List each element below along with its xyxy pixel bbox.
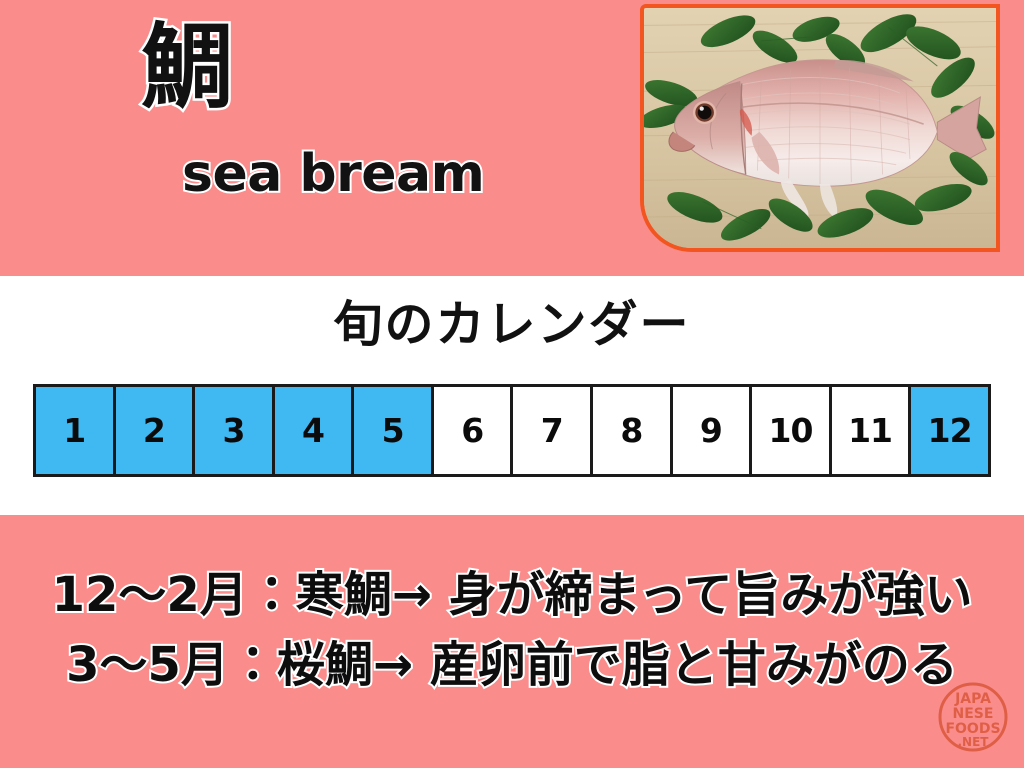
page-title-english: sea bream (182, 148, 484, 200)
season-note-spring: 3〜5月：桜鯛→ 産卵前で脂と甘みがのる (0, 641, 1024, 689)
calendar-title: 旬のカレンダー (0, 298, 1024, 352)
calendar-cell-month-1[interactable]: 1 (36, 387, 116, 474)
calendar-month-table: 1 2 3 4 5 6 7 8 9 10 11 12 (33, 384, 991, 477)
calendar-cell-month-4[interactable]: 4 (275, 387, 355, 474)
stamp-icon: JAPA NESE FOODS .NET (936, 680, 1010, 754)
calendar-cell-month-5[interactable]: 5 (354, 387, 434, 474)
calendar-cell-month-11[interactable]: 11 (832, 387, 912, 474)
poster-root: 鯛 sea bream (0, 0, 1024, 768)
watermark-line-4: .NET (958, 735, 990, 749)
calendar-cell-month-10[interactable]: 10 (752, 387, 832, 474)
watermark-line-2: NESE (953, 706, 994, 722)
calendar-cell-month-2[interactable]: 2 (116, 387, 196, 474)
watermark-line-1: JAPA (954, 691, 991, 707)
sea-bream-illustration (644, 8, 996, 248)
season-note-winter: 12〜2月：寒鯛→ 身が締まって旨みが強い (0, 571, 1024, 619)
site-watermark-logo: JAPA NESE FOODS .NET (936, 680, 1010, 754)
seasonal-calendar-section: 旬のカレンダー 1 2 3 4 5 6 7 8 9 10 11 12 (0, 276, 1024, 515)
calendar-cell-month-3[interactable]: 3 (195, 387, 275, 474)
calendar-cell-month-8[interactable]: 8 (593, 387, 673, 474)
calendar-cell-month-9[interactable]: 9 (673, 387, 753, 474)
sea-bream-photo (640, 4, 1000, 252)
calendar-cell-month-6[interactable]: 6 (434, 387, 514, 474)
page-title-kanji: 鯛 (141, 22, 233, 114)
calendar-cell-month-12[interactable]: 12 (911, 387, 988, 474)
footer-notes-section: 12〜2月：寒鯛→ 身が締まって旨みが強い 3〜5月：桜鯛→ 産卵前で脂と甘みが… (0, 515, 1024, 768)
calendar-cell-month-7[interactable]: 7 (513, 387, 593, 474)
